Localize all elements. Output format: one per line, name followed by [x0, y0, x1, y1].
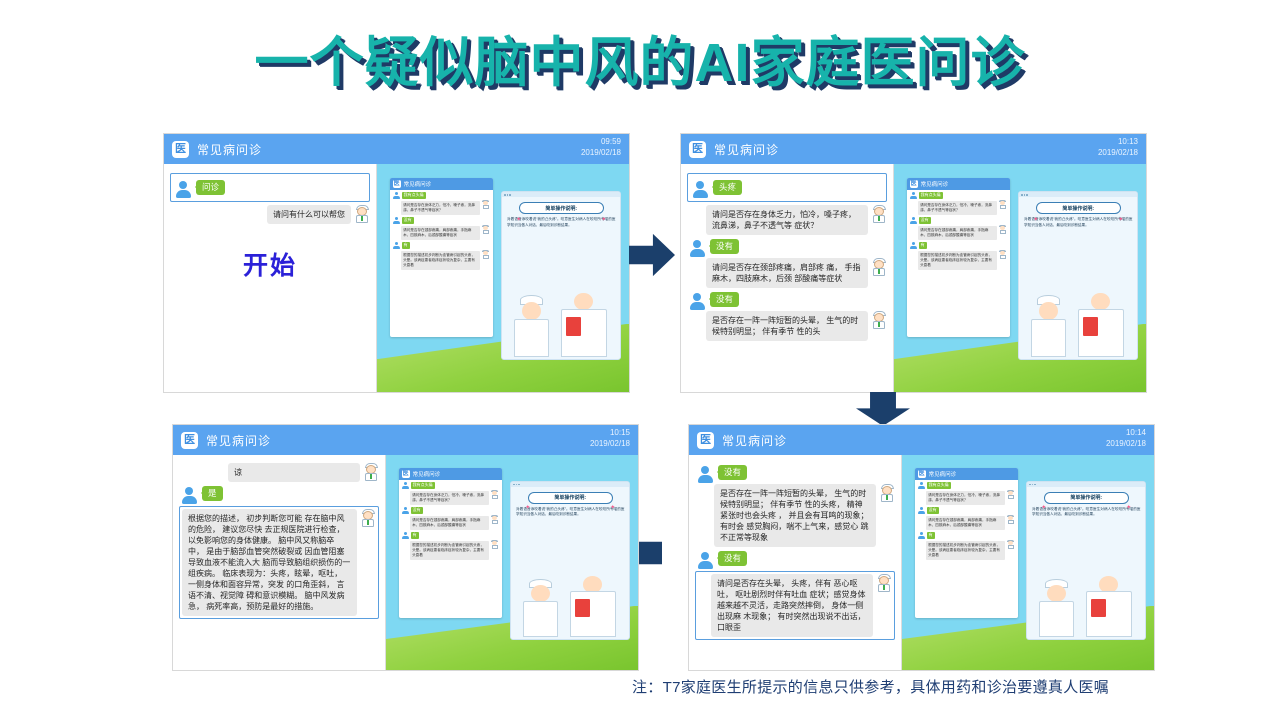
preview-card-title: 简单操作说明: — [1044, 492, 1129, 504]
preview-header-title: 常见病问诊 — [929, 470, 957, 478]
user-message-bubble: 没有 — [710, 292, 739, 307]
message-row-bot: 是否存在一阵一阵短暂的头晕， 生气的时候特别明显； 伴有季节 性的头疼， 精神紧… — [695, 484, 895, 547]
preview-column: 医常见病问诊 我有点头痛 请问是否存在身体乏力，怕冷，嗓子疼，流鼻涕，鼻子不透气… — [894, 164, 1146, 392]
preview-user-bubble: 我有点头痛 — [927, 482, 951, 489]
bot-message-bubble: 请问是否存在身体乏力，怕冷，嗓子疼， 流鼻涕，鼻子不透气等 症状？ — [706, 205, 868, 235]
preview-doctor-icon — [999, 225, 1007, 234]
preview-column: 医常见病问诊 我有点头痛 请问是否存在身体乏力，怕冷，嗓子疼，流鼻涕，鼻子不透气… — [902, 455, 1154, 670]
user-message-bubble: 没有 — [718, 551, 747, 566]
screenshot-panel-3: 医 常见病问诊 10:15 2019/02/18 谅 是 根据您的描述， 初步判… — [172, 424, 639, 671]
preview-card-title: 简单操作说明: — [1036, 202, 1121, 214]
preview-card-text: 对着语音添咬着说“我的凸头疼”。咬意医生对病人在咬咬所专喵的医学知识当做人对话，… — [1032, 507, 1140, 518]
preview-doctor-icon — [482, 200, 490, 209]
flow-arrow-down — [856, 392, 910, 426]
preview-mock: 医常见病问诊 我有点头痛 请问是否存在身体乏力，怕冷，嗓子疼，流鼻涕，鼻子不透气… — [894, 164, 1146, 392]
preview-doctor-icon — [491, 490, 499, 499]
doctor-avatar-icon — [876, 574, 892, 592]
screenshot-panel-1: 医 常见病问诊 09:59 2019/02/18 问诊 请问有什么可以帮您 开始 — [163, 133, 630, 393]
preview-user-bubble: 没有 — [402, 217, 414, 224]
bot-message-bubble: 是否存在一阵一阵短暂的头晕， 生气的时候特别明显； 伴有季节 性的头疼， 精神紧… — [714, 484, 876, 547]
preview-phone: 医常见病问诊 我有点头痛 请问是否存在身体乏力，怕冷，嗓子疼，流鼻涕，鼻子不透气… — [390, 178, 493, 338]
preview-user-avatar-icon — [393, 217, 400, 224]
preview-user-bubble: 有 — [411, 532, 419, 539]
preview-doctor-icon — [482, 250, 490, 259]
doctor-avatar-icon — [363, 463, 379, 481]
message-row-bot: 请问是否存在头晕， 头疼，伴有 恶心呕吐， 呕吐剧烈时伴有吐血 症状；感觉身体越… — [698, 574, 892, 637]
user-message-bubble: 头疼 — [713, 180, 742, 195]
preview-card-title: 简单操作说明: — [519, 202, 604, 214]
preview-user-bubble: 没有 — [919, 217, 931, 224]
app-header-title: 常见病问诊 — [722, 432, 787, 449]
timestamp-time: 10:14 — [1106, 427, 1146, 438]
highlight-box: 根据您的描述， 初步判断您可能 存在脑中风的危险， 建议您尽快 去正规医院进行检… — [179, 506, 379, 619]
doctor-avatar-icon — [871, 205, 887, 223]
timestamp: 10:15 2019/02/18 — [590, 427, 630, 449]
bot-message-bubble: 请问是否存在颈部疼痛，肩部疼 痛， 手指麻木，四肢麻木，后颈 部酸痛等症状 — [706, 258, 868, 288]
preview-header-title: 常见病问诊 — [921, 180, 949, 188]
timestamp-time: 10:13 — [1098, 136, 1138, 147]
preview-chat: 我有点头痛 请问是否存在身体乏力，怕冷，嗓子疼，流鼻涕，鼻子不透气等症状？ 没有… — [907, 190, 1010, 274]
message-row-bot: 根据您的描述， 初步判断您可能 存在脑中风的危险， 建议您尽快 去正规医院进行检… — [182, 509, 376, 616]
chat-column: 头疼 请问是否存在身体乏力，怕冷，嗓子疼， 流鼻涕，鼻子不透气等 症状？ 没有 … — [681, 164, 894, 392]
preview-user-bubble: 没有 — [927, 507, 939, 514]
preview-column: 医常见病问诊 我有点头痛 请问是否存在身体乏力，怕冷，嗓子疼，流鼻涕，鼻子不透气… — [386, 455, 638, 670]
preview-mock: 医常见病问诊 我有点头痛 请问是否存在身体乏力，怕冷，嗓子疼，流鼻涕，鼻子不透气… — [377, 164, 629, 392]
message-row-user[interactable]: 没有 — [689, 239, 887, 256]
preview-bot-bubble: 请问是否存在身体乏力，怕冷，嗓子疼，流鼻涕，鼻子不透气等症状？ — [410, 491, 489, 505]
preview-doctor-illustration — [1027, 571, 1145, 637]
app-header: 医 常见病问诊 10:13 2019/02/18 — [681, 134, 1146, 164]
preview-doctor-icon — [1007, 490, 1015, 499]
app-header-title: 常见病问诊 — [714, 141, 779, 158]
preview-chat: 我有点头痛 请问是否存在身体乏力，怕冷，嗓子疼，流鼻涕，鼻子不透气等症状？ 没有… — [399, 480, 502, 564]
preview-card-text: 对着语音添咬着说“我的凸头疼”。咬意医生对病人在咬咬所专喵的医学知识当做人对话，… — [1024, 217, 1132, 228]
preview-user-avatar-icon — [393, 242, 400, 249]
preview-bot-bubble: 请问是否存在身体乏力，怕冷，嗓子疼，流鼻涕，鼻子不透气等症状？ — [401, 201, 480, 215]
preview-instruction-card: ✦ ✦ 简单操作说明: 对着语音添咬着说“我的凸头疼”。咬意医生对病人在咬咬所专… — [501, 191, 621, 360]
preview-user-bubble: 有 — [402, 242, 410, 249]
app-header-title: 常见病问诊 — [206, 432, 271, 449]
preview-user-avatar-icon — [910, 217, 917, 224]
doctor-avatar-icon — [354, 205, 370, 223]
preview-bot-bubble: 请问是否存在颈部疼痛，肩部疼痛，手指麻木，四肢麻木，后颈部酸痛等症状 — [926, 516, 1005, 530]
preview-header-title: 常见病问诊 — [413, 470, 441, 478]
highlight-box: 问诊 — [170, 173, 370, 202]
preview-logo-icon: 医 — [918, 470, 926, 478]
preview-mock: 医常见病问诊 我有点头痛 请问是否存在身体乏力，怕冷，嗓子疼，流鼻涕，鼻子不透气… — [902, 455, 1154, 670]
preview-phone: 医常见病问诊 我有点头痛 请问是否存在身体乏力，怕冷，嗓子疼，流鼻涕，鼻子不透气… — [915, 468, 1018, 619]
preview-bot-bubble: 请问是否存在颈部疼痛，肩部疼痛，手指麻木，四肢麻木，后颈部酸痛等症状 — [401, 226, 480, 240]
user-message-bubble: 没有 — [710, 239, 739, 254]
preview-header-title: 常见病问诊 — [404, 180, 432, 188]
preview-logo-icon: 医 — [910, 180, 918, 188]
message-row-bot: 请问是否存在身体乏力，怕冷，嗓子疼， 流鼻涕，鼻子不透气等 症状？ — [687, 205, 887, 235]
user-avatar-icon — [175, 181, 191, 197]
preview-doctor-icon — [491, 540, 499, 549]
start-label: 开始 — [170, 246, 370, 282]
preview-bot-bubble: 根据您的描述初步判断为血管病引起的头疼，头晕。该病症患者临床症状较为复杂，主要有… — [401, 251, 480, 270]
preview-bot-bubble: 根据您的描述初步判断为血管病引起的头疼，头晕。该病症患者临床症状较为复杂，主要有… — [410, 541, 489, 560]
preview-doctor-icon — [491, 515, 499, 524]
preview-user-avatar-icon — [918, 507, 925, 514]
user-avatar-icon — [181, 487, 197, 503]
preview-card-text: 对着语音添咬着说“我的凸头疼”。咬意医生对病人在咬咬所专喵的医学知识当做人对话，… — [516, 507, 624, 518]
timestamp-date: 2019/02/18 — [1098, 147, 1138, 158]
timestamp-time: 09:59 — [581, 136, 621, 147]
timestamp: 10:13 2019/02/18 — [1098, 136, 1138, 158]
preview-bot-bubble: 根据您的描述初步判断为血管病引起的头疼，头晕。该病症患者临床症状较为复杂，主要有… — [926, 541, 1005, 560]
preview-user-avatar-icon — [918, 482, 925, 489]
user-message-bubble: 没有 — [718, 465, 747, 480]
preview-doctor-icon — [999, 200, 1007, 209]
footnote: 注：T7家庭医生所提示的信息只供参考，具体用药和诊治要遵真人医嘱 — [632, 676, 1109, 697]
preview-bot-bubble: 请问是否存在身体乏力，怕冷，嗓子疼，流鼻涕，鼻子不透气等症状？ — [926, 491, 1005, 505]
app-header-title: 常见病问诊 — [197, 141, 262, 158]
user-avatar-icon — [692, 181, 708, 197]
preview-doctor-icon — [482, 225, 490, 234]
preview-card-title: 简单操作说明: — [528, 492, 613, 504]
preview-doctor-icon — [1007, 540, 1015, 549]
highlight-box: 头疼 — [687, 173, 887, 202]
preview-phone: 医常见病问诊 我有点头痛 请问是否存在身体乏力，怕冷，嗓子疼，流鼻涕，鼻子不透气… — [907, 178, 1010, 338]
doctor-avatar-icon — [360, 509, 376, 527]
flow-arrow-right — [629, 232, 675, 278]
preview-phone: 医常见病问诊 我有点头痛 请问是否存在身体乏力，怕冷，嗓子疼，流鼻涕，鼻子不透气… — [399, 468, 502, 619]
preview-user-avatar-icon — [910, 242, 917, 249]
bot-message-bubble: 是否存在一阵一阵短暂的头晕， 生气的时候特别明显； 伴有季节 性的头 — [706, 311, 868, 341]
doctor-logo-icon: 医 — [181, 432, 198, 449]
message-row-user[interactable]: 是 — [181, 486, 379, 503]
timestamp-date: 2019/02/18 — [590, 438, 630, 449]
message-row-bot: 谅 — [179, 463, 379, 482]
chat-column: 问诊 请问有什么可以帮您 开始 — [164, 164, 377, 392]
preview-chat: 我有点头痛 请问是否存在身体乏力，怕冷，嗓子疼，流鼻涕，鼻子不透气等症状？ 没有… — [390, 190, 493, 274]
message-row-user[interactable]: 头疼 — [692, 180, 884, 197]
preview-user-avatar-icon — [402, 507, 409, 514]
preview-user-bubble: 我有点头痛 — [919, 192, 943, 199]
preview-instruction-card: ✦ ✦ 简单操作说明: 对着语音添咬着说“我的凸头疼”。咬意医生对病人在咬咬所专… — [1018, 191, 1138, 360]
preview-column: 医常见病问诊 我有点头痛 请问是否存在身体乏力，怕冷，嗓子疼，流鼻涕，鼻子不透气… — [377, 164, 629, 392]
user-avatar-icon — [689, 293, 705, 309]
preview-card-text: 对着语音添咬着说“我的凸头疼”。咬意医生对病人在咬咬所专喵的医学知识当做人对话，… — [507, 217, 615, 228]
preview-user-avatar-icon — [918, 532, 925, 539]
preview-user-avatar-icon — [402, 532, 409, 539]
message-row-user[interactable]: 没有 — [697, 551, 895, 568]
message-row-bot: 是否存在一阵一阵短暂的头晕， 生气的时候特别明显； 伴有季节 性的头 — [687, 311, 887, 341]
preview-doctor-icon — [999, 250, 1007, 259]
timestamp-date: 2019/02/18 — [581, 147, 621, 158]
message-row-user[interactable]: 没有 — [697, 465, 895, 482]
preview-bot-bubble: 请问是否存在颈部疼痛，肩部疼痛，手指麻木，四肢麻木，后颈部酸痛等症状 — [410, 516, 489, 530]
preview-user-bubble: 有 — [919, 242, 927, 249]
preview-mock: 医常见病问诊 我有点头痛 请问是否存在身体乏力，怕冷，嗓子疼，流鼻涕，鼻子不透气… — [386, 455, 638, 670]
message-row-bot: 请问有什么可以帮您 — [170, 205, 370, 224]
preview-instruction-card: ✦ ✦ 简单操作说明: 对着语音添咬着说“我的凸头疼”。咬意医生对病人在咬咬所专… — [510, 481, 630, 640]
preview-chat: 我有点头痛 请问是否存在身体乏力，怕冷，嗓子疼，流鼻涕，鼻子不透气等症状？ 没有… — [915, 480, 1018, 564]
preview-user-avatar-icon — [402, 482, 409, 489]
preview-user-bubble: 没有 — [411, 507, 423, 514]
message-row-user[interactable]: 问诊 — [175, 180, 367, 197]
preview-logo-icon: 医 — [393, 180, 401, 188]
user-avatar-icon — [689, 240, 705, 256]
timestamp-date: 2019/02/18 — [1106, 438, 1146, 449]
doctor-logo-icon: 医 — [172, 141, 189, 158]
chat-column: 谅 是 根据您的描述， 初步判断您可能 存在脑中风的危险， 建议您尽快 去正规医… — [173, 455, 386, 670]
message-row-bot: 请问是否存在颈部疼痛，肩部疼 痛， 手指麻木，四肢麻木，后颈 部酸痛等症状 — [687, 258, 887, 288]
app-header: 医 常见病问诊 10:14 2019/02/18 — [689, 425, 1154, 455]
preview-doctor-illustration — [1019, 287, 1137, 357]
bot-message-bubble: 根据您的描述， 初步判断您可能 存在脑中风的危险， 建议您尽快 去正规医院进行检… — [182, 509, 357, 616]
bot-message-bubble: 谅 — [228, 463, 360, 482]
preview-bot-bubble: 请问是否存在颈部疼痛，肩部疼痛，手指麻木，四肢麻木，后颈部酸痛等症状 — [918, 226, 997, 240]
preview-doctor-icon — [1007, 515, 1015, 524]
user-avatar-icon — [697, 552, 713, 568]
preview-logo-icon: 医 — [402, 470, 410, 478]
chat-column: 没有 是否存在一阵一阵短暂的头晕， 生气的时候特别明显； 伴有季节 性的头疼， … — [689, 455, 902, 670]
preview-user-avatar-icon — [393, 192, 400, 199]
preview-doctor-illustration — [502, 287, 620, 357]
user-avatar-icon — [697, 466, 713, 482]
preview-user-avatar-icon — [910, 192, 917, 199]
app-header: 医 常见病问诊 09:59 2019/02/18 — [164, 134, 629, 164]
preview-user-bubble: 我有点头痛 — [402, 192, 426, 199]
doctor-avatar-icon — [871, 258, 887, 276]
preview-instruction-card: ✦ ✦ 简单操作说明: 对着语音添咬着说“我的凸头疼”。咬意医生对病人在咬咬所专… — [1026, 481, 1146, 640]
timestamp: 10:14 2019/02/18 — [1106, 427, 1146, 449]
preview-user-bubble: 有 — [927, 532, 935, 539]
doctor-avatar-icon — [871, 311, 887, 329]
user-message-bubble: 问诊 — [196, 180, 225, 195]
doctor-logo-icon: 医 — [689, 141, 706, 158]
doctor-logo-icon: 医 — [697, 432, 714, 449]
preview-doctor-illustration — [511, 571, 629, 637]
bot-message-bubble: 请问是否存在头晕， 头疼，伴有 恶心呕吐， 呕吐剧烈时伴有吐血 症状；感觉身体越… — [711, 574, 873, 637]
bot-message-bubble: 请问有什么可以帮您 — [267, 205, 351, 224]
preview-user-bubble: 我有点头痛 — [411, 482, 435, 489]
timestamp: 09:59 2019/02/18 — [581, 136, 621, 158]
doctor-avatar-icon — [879, 484, 895, 502]
message-row-user[interactable]: 没有 — [689, 292, 887, 309]
user-message-bubble: 是 — [202, 486, 223, 501]
app-header: 医 常见病问诊 10:15 2019/02/18 — [173, 425, 638, 455]
screenshot-panel-2: 医 常见病问诊 10:13 2019/02/18 头疼 请问是否存在身体乏力，怕… — [680, 133, 1147, 393]
preview-bot-bubble: 根据您的描述初步判断为血管病引起的头疼，头晕。该病症患者临床症状较为复杂，主要有… — [918, 251, 997, 270]
screenshot-panel-4: 医 常见病问诊 10:14 2019/02/18 没有 是否存在一阵一阵短暂的头… — [688, 424, 1155, 671]
page-title: 一个疑似脑中风的AI家庭医问诊 — [0, 18, 1280, 97]
preview-bot-bubble: 请问是否存在身体乏力，怕冷，嗓子疼，流鼻涕，鼻子不透气等症状？ — [918, 201, 997, 215]
highlight-box: 请问是否存在头晕， 头疼，伴有 恶心呕吐， 呕吐剧烈时伴有吐血 症状；感觉身体越… — [695, 571, 895, 640]
timestamp-time: 10:15 — [590, 427, 630, 438]
